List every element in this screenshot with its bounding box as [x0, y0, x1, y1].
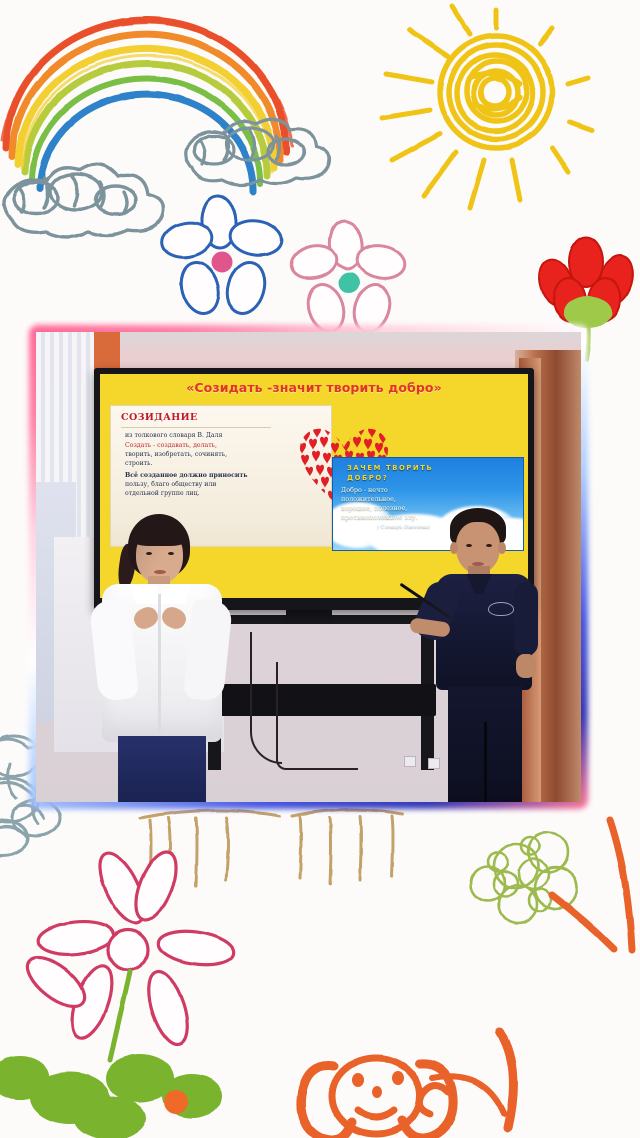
tree-branch-doodle: [552, 895, 614, 949]
power-cable-2: [276, 662, 358, 770]
slide-title: «Созидать -значит творить добро»: [186, 380, 442, 395]
video-post-stage: «Созидать -значит творить добро» СОЗИДАН…: [0, 0, 640, 1138]
slide-right-line-1: Добро - нечто: [341, 486, 517, 494]
slide-left-line-3: творить, изобретать, сочинять,: [125, 451, 263, 460]
dog-ear-curl-doodle: [419, 1085, 448, 1114]
boy-arm-right: [514, 582, 538, 656]
slide-right-heading-line1: ЗАЧЕМ ТВОРИТЬ: [347, 464, 433, 472]
tree-green-doodle: [471, 832, 577, 923]
girl-presenter: [88, 514, 238, 802]
flower-blue-doodle: [159, 195, 284, 318]
slide-left-line-5: Всё созданное должно приносить: [125, 472, 263, 481]
berry-orange-doodle: [164, 1090, 188, 1114]
grass-tufts-doodle: [140, 809, 402, 886]
video-frame[interactable]: «Созидать -значит творить добро» СОЗИДАН…: [36, 332, 581, 802]
slide-left-line-2: Создать - создавать, делать,: [125, 442, 263, 451]
slide-title-bar: «Созидать -значит творить добро»: [100, 374, 528, 401]
boy-hand-right: [516, 654, 536, 678]
girl-shirt-placket: [158, 594, 161, 736]
classroom-scene: «Созидать -значит творить добро» СОЗИДАН…: [36, 332, 581, 802]
rainbow-doodle: [2, 20, 292, 192]
boy-eye-right: [486, 544, 492, 547]
dog-face-doodle: [301, 1032, 514, 1138]
slide-left-line-7: отдельной группе лиц.: [125, 490, 263, 499]
flower-pink-doodle: [288, 219, 407, 336]
sun-doodle: [382, 6, 592, 208]
boy-presenter: [414, 508, 554, 802]
girl-trousers: [118, 736, 206, 802]
boy-ear-left: [450, 542, 458, 554]
dog-face-features-doodle: [352, 1071, 404, 1098]
girl-eye-right: [168, 552, 174, 555]
boy-ear-right: [498, 542, 506, 554]
video-player-card[interactable]: «Созидать -значит творить добро» СОЗИДАН…: [36, 332, 581, 802]
girl-eye-left: [146, 552, 152, 555]
daisy-pink-doodle: [19, 847, 235, 1049]
boy-shirt-emblem: [488, 602, 514, 616]
slide-right-heading-line2: ДОБРО?: [347, 474, 388, 482]
slide-left-line-6: пользу, благо обществу или: [125, 481, 263, 490]
boy-leg-separation: [484, 722, 487, 802]
slide-left-rule: [121, 427, 271, 428]
boy-eye-left: [466, 544, 472, 547]
cloud-doodle-left: [4, 164, 163, 237]
slide-left-line-4: строить.: [125, 460, 263, 469]
girl-mouth: [154, 570, 166, 574]
girl-fringe: [132, 524, 187, 546]
slide-left-heading: СОЗИДАНИЕ: [121, 412, 198, 423]
tv-stand-neck: [286, 610, 332, 624]
slide-right-line-2: положительное,: [341, 495, 517, 503]
slide-left-line-1: из толкового словаря В. Даля: [125, 432, 263, 441]
leaves-green-doodle: [0, 1054, 222, 1138]
